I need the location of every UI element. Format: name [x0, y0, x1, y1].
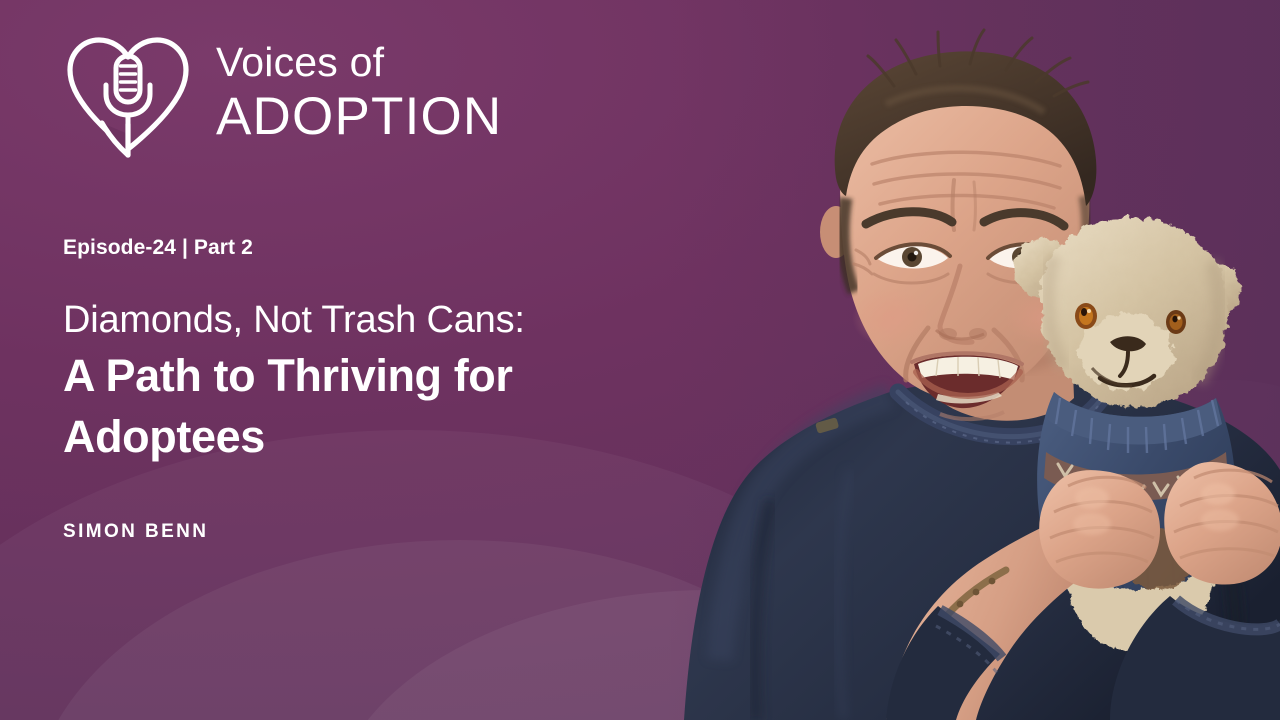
heart-microphone-speech-bubble-icon [62, 28, 194, 160]
episode-copy: Episode-24 | Part 2 Diamonds, Not Trash … [63, 236, 663, 468]
episode-label: Episode-24 | Part 2 [63, 236, 663, 260]
episode-subtitle: Diamonds, Not Trash Cans: [63, 298, 663, 343]
brand-line-voices-of: Voices of [216, 42, 502, 83]
guest-photo [640, 0, 1280, 720]
teddy-eye-right [1166, 310, 1186, 334]
brand-logo[interactable]: Voices of ADOPTION [62, 28, 502, 160]
brand-line-adoption: ADOPTION [216, 90, 502, 143]
episode-title: A Path to Thriving for Adoptees [63, 345, 643, 468]
guest-photo-illustration [640, 0, 1280, 720]
speaker-name: SIMON BENN [63, 521, 208, 543]
podcast-episode-cover: Voices of ADOPTION Episode-24 | Part 2 D… [0, 0, 1280, 720]
brand-wordmark: Voices of ADOPTION [216, 42, 502, 147]
teddy-eye-left [1075, 303, 1097, 329]
